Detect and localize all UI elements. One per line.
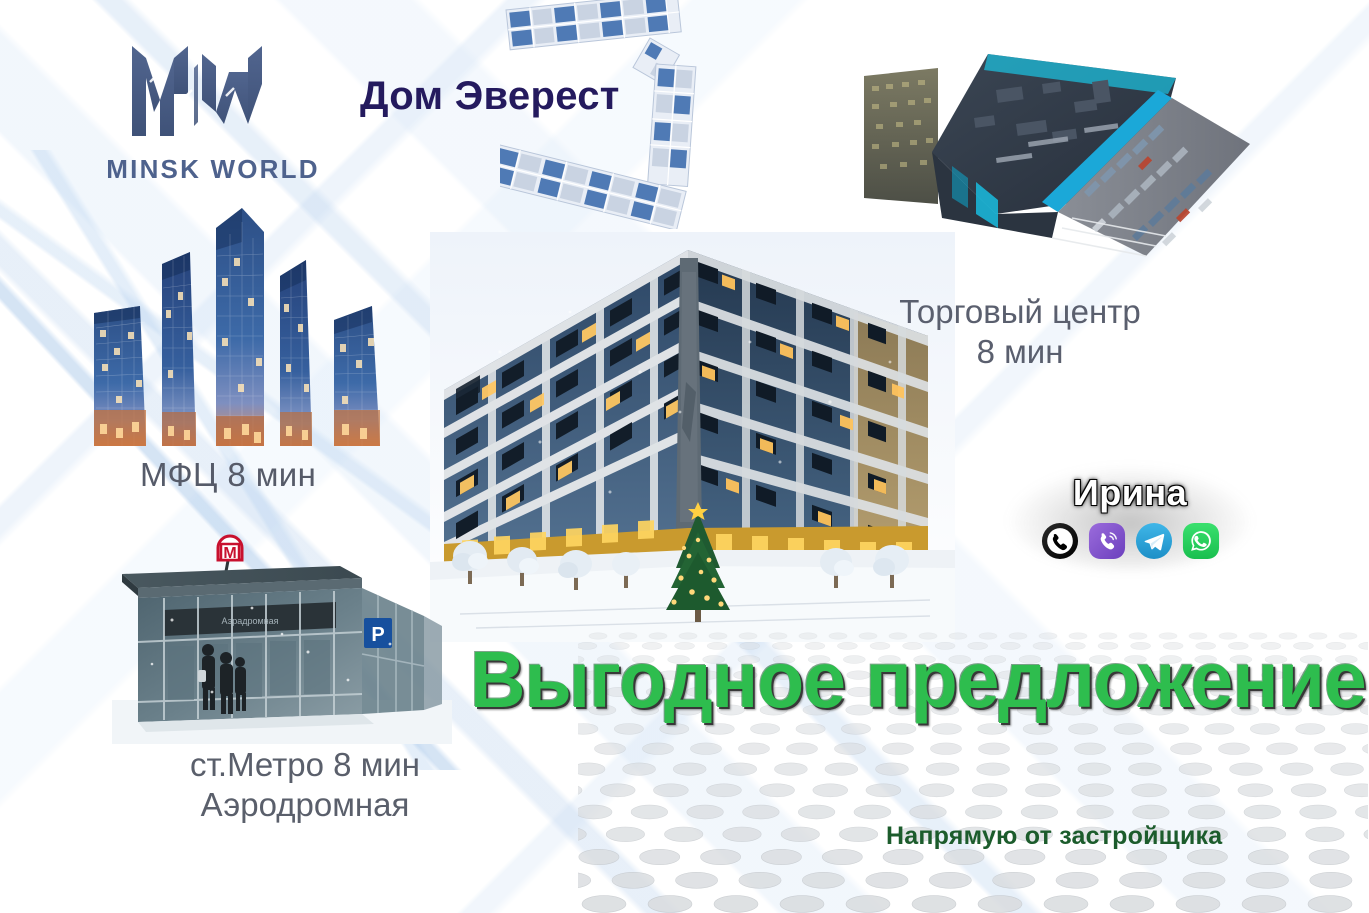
label-shopping-center: Торговый центр 8 мин xyxy=(860,292,1180,373)
svg-text:Аэрадромная: Аэрадромная xyxy=(221,616,278,626)
headline-special-offer: Выгодное предложение xyxy=(470,640,1142,720)
contact-icon-row xyxy=(1030,522,1230,560)
minsk-world-monogram-icon xyxy=(98,38,328,144)
metro-m-sign-icon: M xyxy=(218,536,242,562)
mfc-towers-image xyxy=(72,198,402,453)
phone-icon[interactable] xyxy=(1041,522,1079,560)
label-direct-from-developer: Напрямую от застройщика xyxy=(886,822,1222,851)
contact-name: Ирина xyxy=(1030,472,1230,514)
telegram-icon[interactable] xyxy=(1135,522,1173,560)
svg-text:M: M xyxy=(223,545,236,562)
metro-station-image: M Аэрадромная xyxy=(112,524,452,744)
label-mfc: МФЦ 8 мин xyxy=(140,456,316,494)
svg-text:P: P xyxy=(371,624,384,646)
brand-logo: MINSK WORLD xyxy=(98,38,328,185)
parking-sign-icon: P xyxy=(364,618,392,648)
brand-wordmark: MINSK WORLD xyxy=(98,154,328,185)
label-everest-house: Дом Эверест xyxy=(360,74,620,119)
promo-poster: MINSK WORLD xyxy=(0,0,1369,913)
whatsapp-icon[interactable] xyxy=(1182,522,1220,560)
viber-icon[interactable] xyxy=(1088,522,1126,560)
contact-block: Ирина xyxy=(1030,472,1230,560)
label-metro-station: ст.Метро 8 мин Аэродромная xyxy=(140,745,470,826)
